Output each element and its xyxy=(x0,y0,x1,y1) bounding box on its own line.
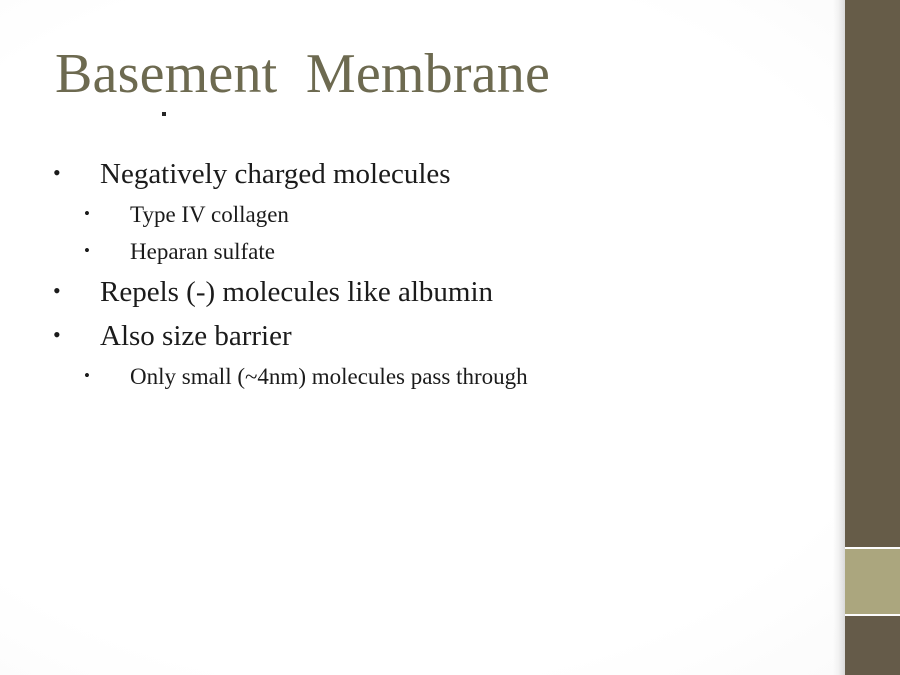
bullet-list: • Negatively charged molecules • Type IV… xyxy=(0,152,800,395)
list-item-label: Also size barrier xyxy=(100,314,292,358)
list-item-label: Type IV collagen xyxy=(130,196,289,233)
list-item: • Negatively charged molecules xyxy=(0,152,800,196)
page-title: Basement Membrane xyxy=(55,44,550,106)
list-item-label: Repels (-) molecules like albumin xyxy=(100,270,493,314)
bullet-marker-icon: • xyxy=(84,367,90,384)
slide-content-area: Basement Membrane • Negatively charged m… xyxy=(0,0,845,675)
list-item-label: Heparan sulfate xyxy=(130,233,275,270)
list-item: • Type IV collagen xyxy=(0,196,800,233)
khaki-accent-band xyxy=(845,549,900,614)
list-item-label: Negatively charged molecules xyxy=(100,152,451,196)
list-item: • Only small (~4nm) molecules pass throu… xyxy=(0,358,800,395)
bullet-marker-icon: • xyxy=(53,162,61,184)
stray-dot-artifact xyxy=(162,112,166,116)
sidebar-edge-shadow xyxy=(833,0,845,675)
presentation-slide: Basement Membrane • Negatively charged m… xyxy=(0,0,900,675)
list-item: • Also size barrier xyxy=(0,314,800,358)
list-item: • Repels (-) molecules like albumin xyxy=(0,270,800,314)
bullet-marker-icon: • xyxy=(53,280,61,302)
bullet-marker-icon: • xyxy=(84,205,90,222)
bullet-marker-icon: • xyxy=(53,324,61,346)
list-item: • Heparan sulfate xyxy=(0,233,800,270)
bullet-marker-icon: • xyxy=(84,242,90,259)
upper-dark-band xyxy=(845,0,900,547)
lower-dark-band xyxy=(845,616,900,675)
list-item-label: Only small (~4nm) molecules pass through xyxy=(130,358,528,395)
decorative-sidebar xyxy=(845,0,900,675)
